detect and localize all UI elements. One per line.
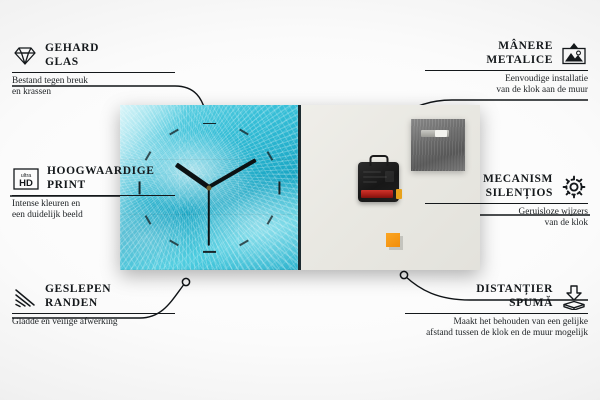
- mechanism-dial: [385, 171, 394, 182]
- callout-desc: afstand tussen de klok en de muur mogeli…: [405, 328, 588, 339]
- leader-dot-bottom-right: [400, 271, 407, 278]
- callout-desc: en krassen: [12, 87, 175, 98]
- mechanism-vent: [363, 171, 381, 173]
- callout-desc: een duidelijk beeld: [12, 210, 175, 221]
- callout-metal-handles: MÂNERE METALICE Eenvoudige installatie v…: [425, 40, 588, 96]
- callout-title: GESLEPEN: [45, 283, 111, 297]
- foam-spacer-sample: [386, 233, 400, 247]
- callout-foam-spacer: DISTANȚIER SPUMĂ Maakt het behouden van …: [405, 283, 588, 339]
- callout-title: PRINT: [47, 179, 155, 193]
- diamond-icon: [12, 45, 38, 67]
- ultra-hd-icon: ultra HD: [12, 167, 40, 191]
- gear-icon: [560, 174, 588, 200]
- callout-title: RANDEN: [45, 297, 111, 311]
- spacer-arrow-icon: [560, 284, 588, 310]
- callout-title: SPUMĂ: [476, 297, 553, 311]
- callout-desc: Maakt het behouden van een gelijke: [405, 317, 588, 328]
- callout-title: GLAS: [45, 56, 99, 70]
- clock-tick: [278, 181, 280, 194]
- callout-title: MECANISM: [483, 173, 553, 187]
- callout-desc: Bestand tegen breuk: [12, 76, 175, 87]
- callout-title: MÂNERE: [486, 40, 553, 54]
- callout-desc: Gladde en veilige afwerking: [12, 317, 175, 328]
- clock-tick: [203, 123, 216, 125]
- framed-picture-icon: [560, 42, 588, 66]
- beveled-edge-icon: [12, 286, 38, 308]
- callout-rule: [425, 203, 588, 204]
- mechanism-hook: [369, 155, 388, 166]
- callout-desc: Eenvoudige installatie: [425, 74, 588, 85]
- callout-title: SILENȚIOS: [483, 187, 553, 201]
- battery-terminal: [396, 189, 402, 199]
- callout-rule: [425, 70, 588, 71]
- callout-rule: [405, 313, 588, 314]
- callout-title: GEHARD: [45, 42, 99, 56]
- battery: [361, 190, 393, 198]
- hanger-slot: [435, 130, 447, 137]
- callout-desc: Geruisloze wijzers: [425, 207, 588, 218]
- callout-desc: van de klok: [425, 218, 588, 229]
- callout-desc: Intense kleuren en: [12, 199, 175, 210]
- callout-high-quality-print: ultra HD HOOGWAARDIGE PRINT Intense kleu…: [12, 165, 175, 221]
- mechanism-vent: [363, 176, 387, 178]
- callout-silent-mechanism: MECANISM SILENȚIOS Geruisloze wijzers va…: [425, 173, 588, 229]
- clock-mechanism: [358, 162, 399, 202]
- callout-title: METALICE: [486, 54, 553, 68]
- second-hand: [208, 187, 210, 245]
- callout-tempered-glass: GEHARD GLAS Bestand tegen breuk en krass…: [12, 42, 175, 98]
- callout-title: HOOGWAARDIGE: [47, 165, 155, 179]
- callout-rule: [12, 313, 175, 314]
- mechanism-vent: [363, 181, 377, 183]
- callout-rule: [12, 72, 175, 73]
- leader-dot-bottom-left: [182, 278, 189, 285]
- clock-pivot: [207, 185, 212, 190]
- metal-hanger-sample: [411, 119, 465, 171]
- ultra-hd-big-label: HD: [19, 178, 33, 189]
- clock-tick: [203, 251, 216, 253]
- callout-beveled-edges: GESLEPEN RANDEN Gladde en veilige afwerk…: [12, 283, 175, 328]
- callout-rule: [12, 195, 175, 196]
- callout-title: DISTANȚIER: [476, 283, 553, 297]
- infographic-canvas: GEHARD GLAS Bestand tegen breuk en krass…: [0, 0, 600, 400]
- callout-desc: van de klok aan de muur: [425, 85, 588, 96]
